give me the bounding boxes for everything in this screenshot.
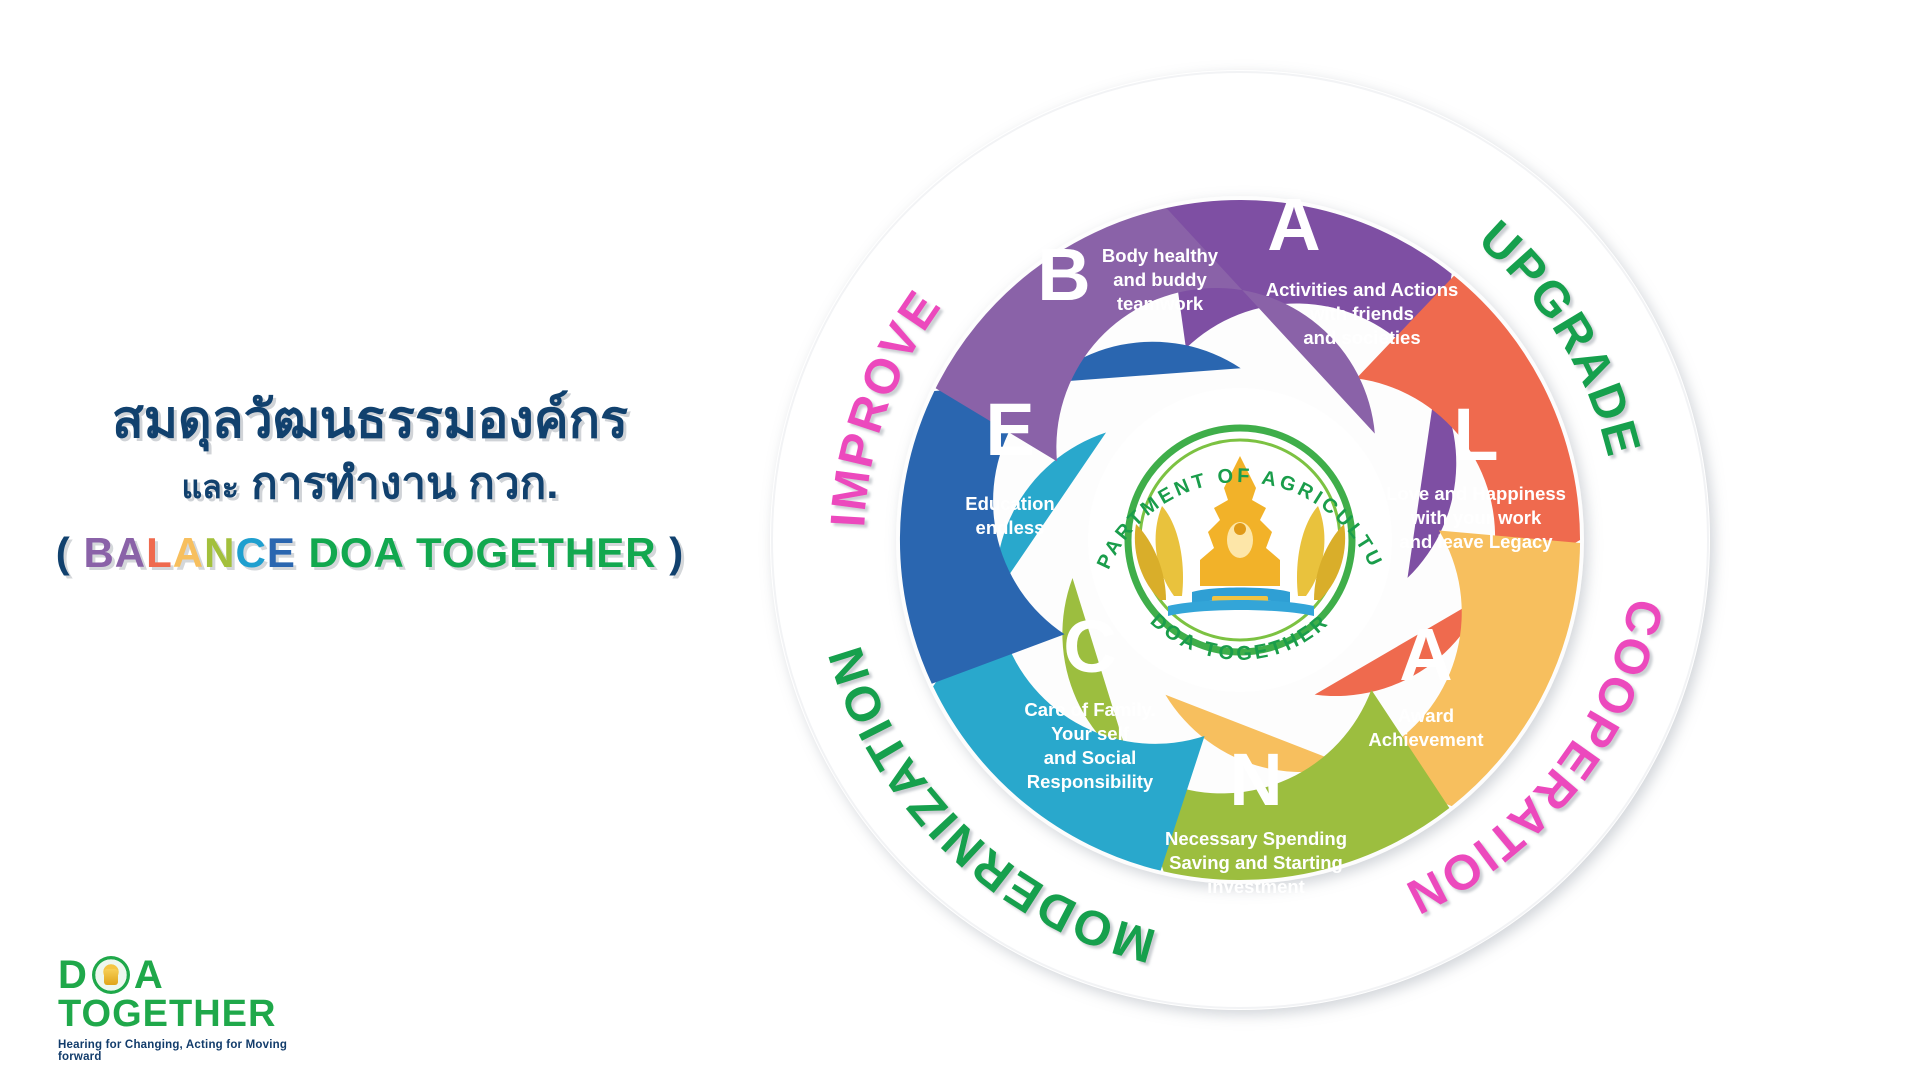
balance-acronym: BALANCE: [83, 529, 295, 576]
segment-desc-b-line2: and buddy: [1113, 269, 1207, 290]
segment-desc-n-line3: investment: [1207, 876, 1305, 897]
infographic-canvas: สมดุลวัฒนธรรมองค์กร และ การทำงาน กวก. ( …: [0, 0, 1920, 1080]
logo-letter-d: D: [58, 955, 88, 995]
segment-letter-a-award: A: [1399, 613, 1452, 696]
segment-desc-a1-line2: with friends: [1309, 303, 1414, 324]
doa-together-logo: D A TOGETHER Hearing for Changing, Actin…: [58, 955, 288, 1063]
balance-letter-3: A: [173, 529, 204, 576]
segment-letter-e: E: [985, 388, 1034, 471]
segment-desc-a1-line3: and societies: [1303, 327, 1420, 348]
headline-line-3: ( BALANCE DOA TOGETHER ): [0, 529, 740, 577]
segment-desc-c-line3: and Social: [1044, 747, 1137, 768]
segment-desc-e-line1: Education: [965, 493, 1054, 514]
balance-wheel-diagram: B Body healthy and buddy teamwork A Acti…: [700, 0, 1780, 1080]
label-b-body: B Body healthy and buddy teamwork: [1037, 233, 1219, 316]
segment-desc-a2-line1: Award: [1398, 705, 1454, 726]
segment-letter-l: L: [1453, 393, 1498, 476]
segment-desc-c-line2: Your self: [1051, 723, 1130, 744]
logo-letter-a: A: [134, 955, 164, 995]
doa-seal-icon: [92, 956, 130, 994]
balance-letter-5: C: [235, 529, 266, 576]
segment-letter-a-upgrade: A: [1267, 183, 1320, 266]
segment-letter-c: C: [1063, 605, 1116, 688]
segment-desc-b-line1: Body healthy: [1102, 245, 1219, 266]
segment-desc-n-line1: Necessary Spending: [1165, 828, 1347, 849]
segment-letter-n: N: [1229, 738, 1282, 821]
balance-letter-6: E: [267, 529, 296, 576]
balance-letter-1: A: [115, 529, 146, 576]
segment-desc-n-line2: Saving and Starting: [1169, 852, 1343, 873]
balance-letter-0: B: [83, 529, 114, 576]
headline-block: สมดุลวัฒนธรรมองค์กร และ การทำงาน กวก. ( …: [0, 390, 740, 577]
balance-letter-2: L: [146, 529, 173, 576]
headline-line-2-main: การทำงาน กวก.: [251, 459, 558, 508]
segment-desc-l-line3: and leave Legacy: [1399, 531, 1553, 552]
balance-letter-4: N: [204, 529, 235, 576]
segment-desc-c-line1: Care of Family.: [1024, 699, 1155, 720]
segment-desc-l-line2: with your work: [1410, 507, 1542, 528]
segment-desc-a1-line1: Activities and Actions: [1266, 279, 1459, 300]
segment-desc-e-line2: endless: [976, 517, 1045, 538]
segment-desc-l-line1: Love and Happiness: [1386, 483, 1566, 504]
logo-first-row: D A: [58, 955, 288, 995]
paren-open: (: [56, 529, 71, 576]
segment-desc-b-line3: teamwork: [1117, 293, 1204, 314]
headline-line-2: และ การทำงาน กวก.: [0, 455, 740, 512]
paren-close: ): [669, 529, 684, 576]
logo-together-text: TOGETHER: [58, 995, 288, 1035]
segment-desc-c-line4: Responsibility: [1027, 771, 1154, 792]
logo-tagline: Hearing for Changing, Acting for Moving …: [58, 1039, 288, 1063]
headline-line-2-prefix: และ: [181, 469, 238, 505]
segment-letter-b: B: [1037, 233, 1090, 316]
doa-together-text: DOA TOGETHER: [309, 529, 657, 576]
segment-desc-a2-line2: Achievement: [1368, 729, 1483, 750]
headline-line-1: สมดุลวัฒนธรรมองค์กร: [0, 390, 740, 451]
